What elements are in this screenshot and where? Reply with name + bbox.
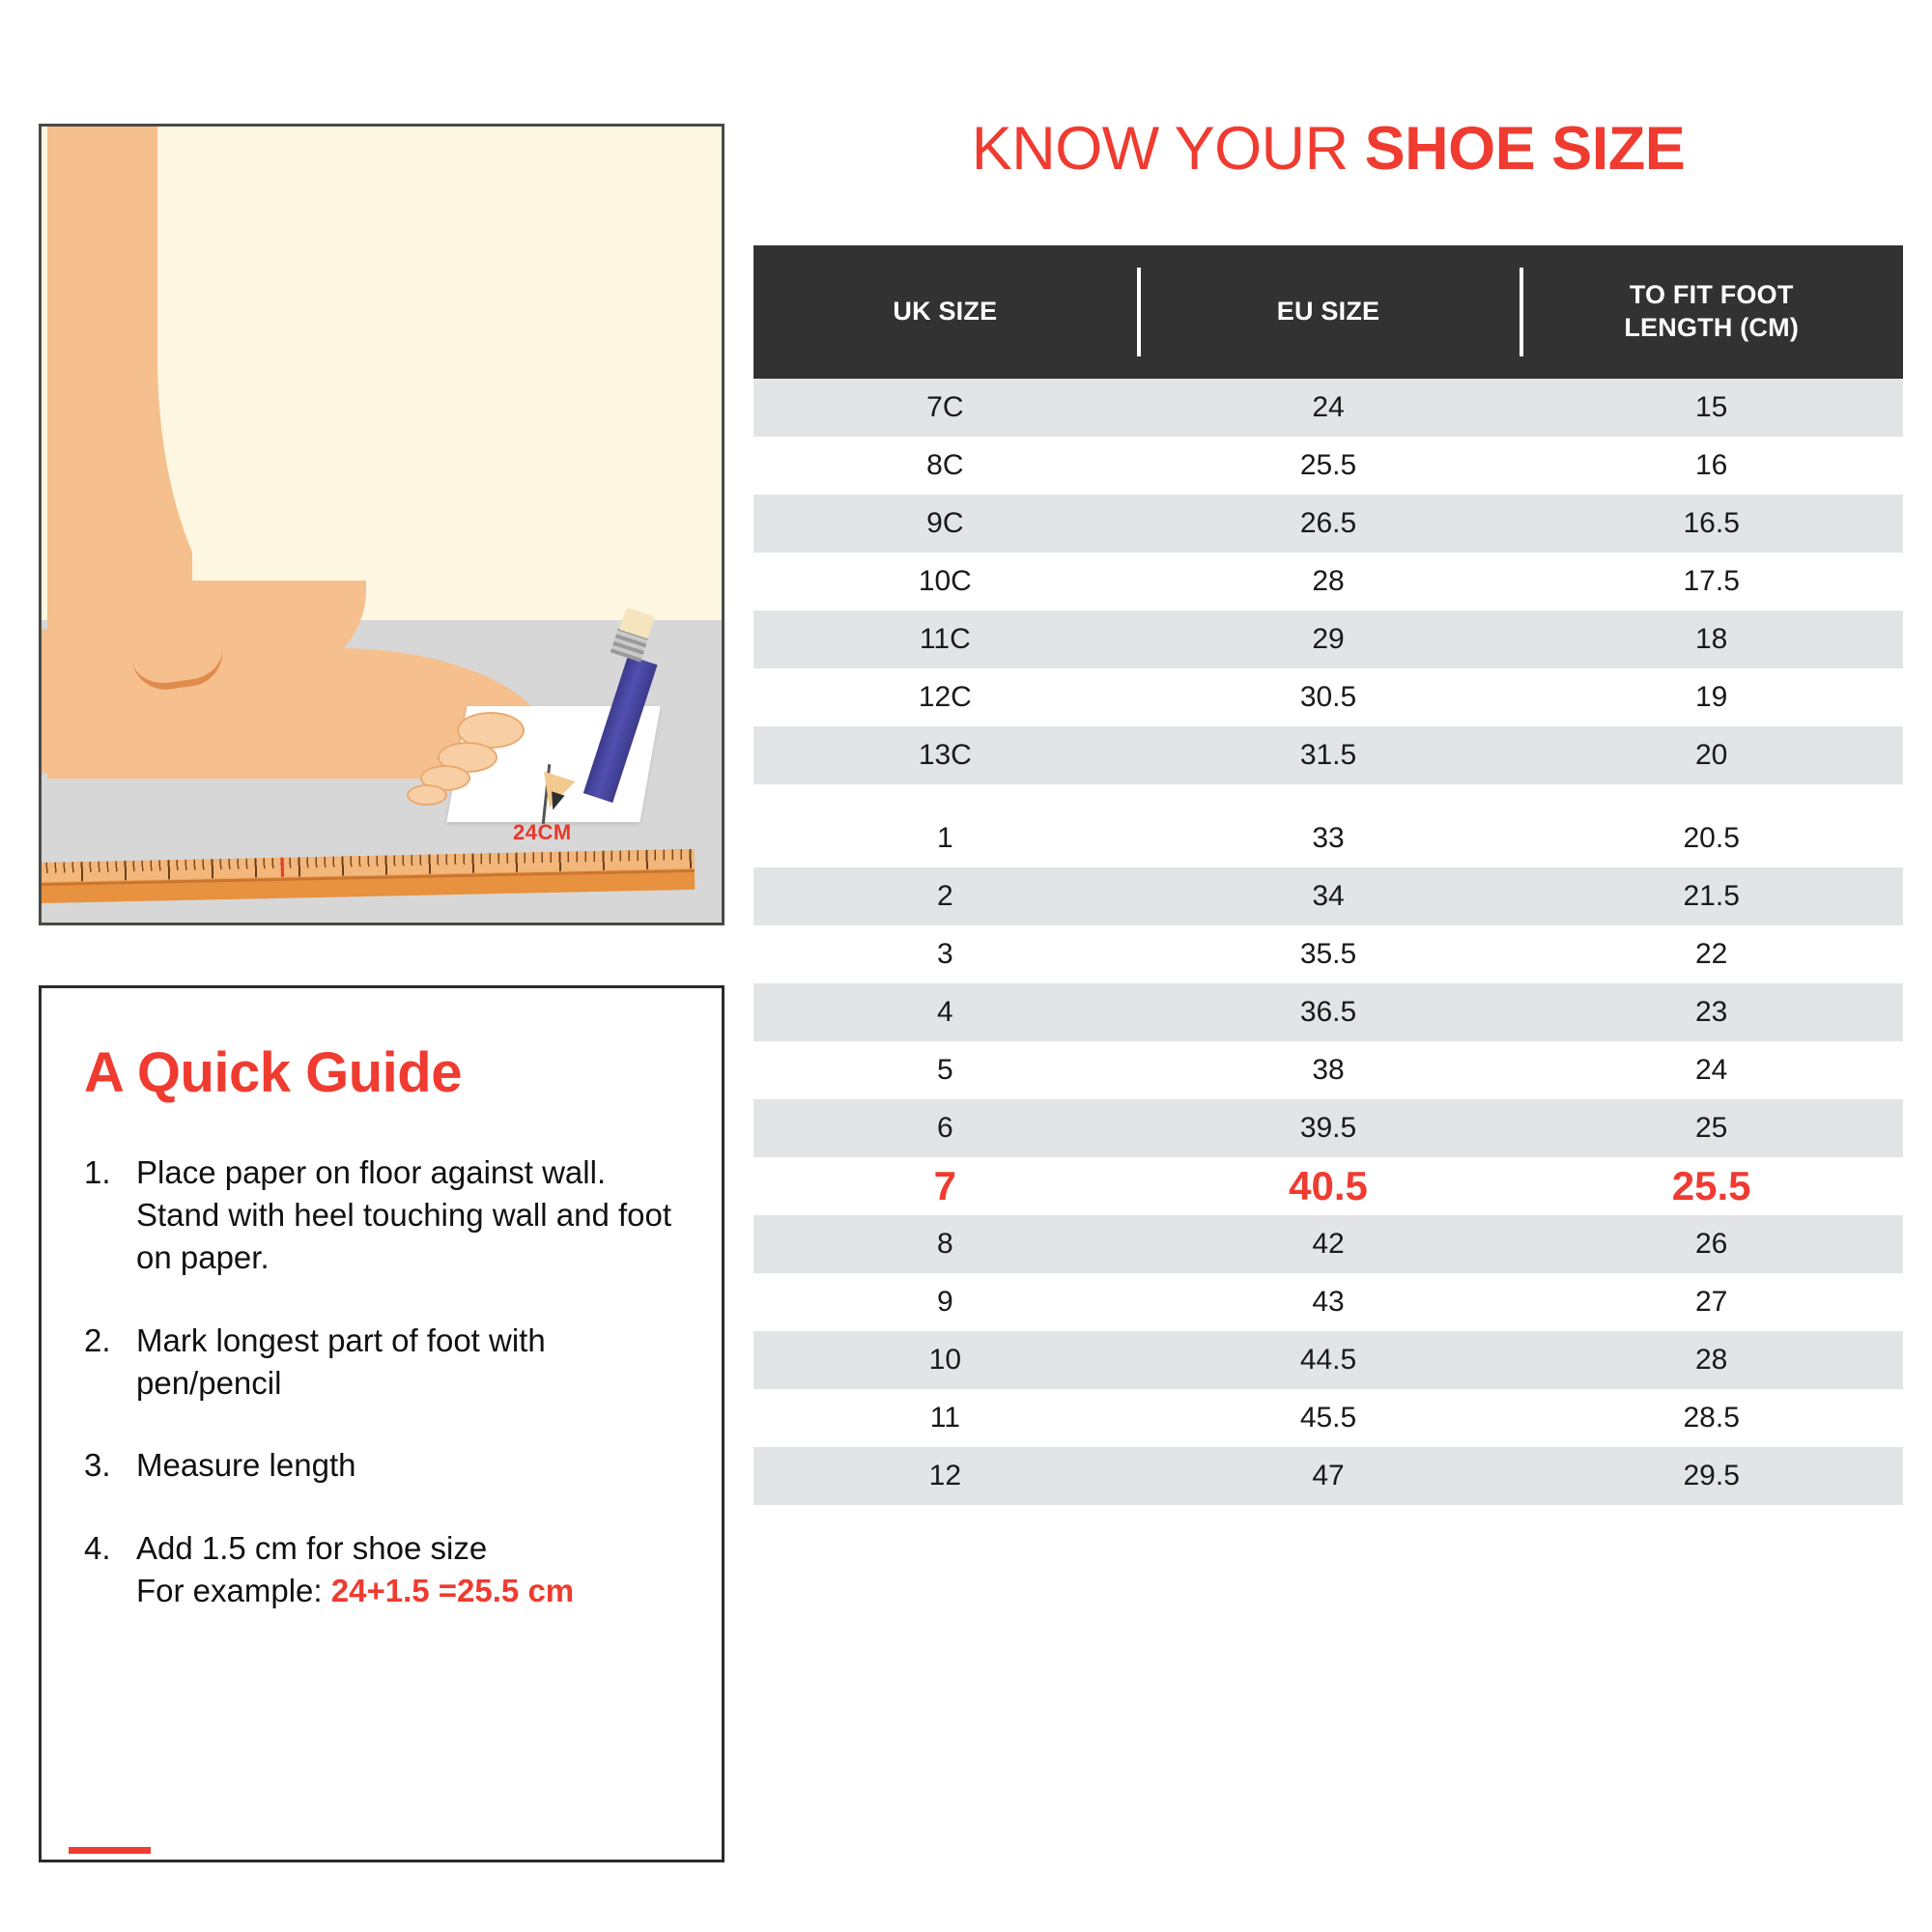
cell-foot-length: 23 [1520, 983, 1903, 1041]
left-column: 24CM A Quick Guide 1. Place paper on flo… [39, 124, 724, 1862]
cell-eu-size: 36.5 [1137, 983, 1520, 1041]
cell-eu-size: 47 [1137, 1447, 1520, 1505]
cell-foot-length: 16.5 [1520, 495, 1903, 553]
cell-foot-length: 25.5 [1520, 1157, 1903, 1215]
step-example-prefix: For example: [136, 1573, 331, 1608]
cell-uk-size: 13C [753, 726, 1137, 784]
cell-uk-size: 10 [753, 1331, 1137, 1389]
cell-eu-size: 31.5 [1137, 726, 1520, 784]
page-title: KNOW YOUR SHOE SIZE [753, 114, 1903, 184]
list-item: 2. Mark longest part of foot with pen/pe… [84, 1320, 679, 1405]
step-example-value: 24+1.5 =25.5 cm [331, 1573, 574, 1608]
cell-eu-size: 42 [1137, 1215, 1520, 1273]
cell-foot-length: 18 [1520, 611, 1903, 668]
step-number: 2. [84, 1320, 121, 1405]
cell-eu-size: 25.5 [1137, 437, 1520, 495]
right-column: KNOW YOUR SHOE SIZE UK SIZE EU SIZE TO F… [753, 0, 1903, 1505]
table-row: 10C2817.5 [753, 553, 1903, 611]
cell-uk-size: 7 [753, 1157, 1137, 1215]
cell-foot-length: 26 [1520, 1215, 1903, 1273]
toe-fourth-icon [407, 784, 447, 806]
cell-foot-length: 27 [1520, 1273, 1903, 1331]
cell-eu-size: 38 [1137, 1041, 1520, 1099]
table-header-row: UK SIZE EU SIZE TO FIT FOOTLENGTH (CM) [753, 245, 1903, 379]
shoe-size-table: UK SIZE EU SIZE TO FIT FOOTLENGTH (CM) 7… [753, 245, 1903, 1505]
cell-uk-size: 8C [753, 437, 1137, 495]
cell-eu-size: 39.5 [1137, 1099, 1520, 1157]
cell-uk-size: 8 [753, 1215, 1137, 1273]
cell-foot-length: 20.5 [1520, 810, 1903, 867]
table-row: 84226 [753, 1215, 1903, 1273]
cell-uk-size: 9C [753, 495, 1137, 553]
quick-guide-card: A Quick Guide 1. Place paper on floor ag… [39, 985, 724, 1862]
cell-eu-size: 33 [1137, 810, 1520, 867]
cell-uk-size: 11 [753, 1389, 1137, 1447]
table-row: 12C30.519 [753, 668, 1903, 726]
table-row: 1145.528.5 [753, 1389, 1903, 1447]
step-number: 1. [84, 1151, 121, 1279]
cell-uk-size: 5 [753, 1041, 1137, 1099]
table-row: 740.525.5 [753, 1157, 1903, 1215]
step-text-group: Add 1.5 cm for shoe size For example: 24… [136, 1527, 574, 1612]
cell-foot-length: 28.5 [1520, 1389, 1903, 1447]
cell-eu-size: 24 [1137, 379, 1520, 437]
cell-uk-size: 2 [753, 867, 1137, 925]
list-item: 3. Measure length [84, 1444, 679, 1487]
cell-foot-length: 28 [1520, 1331, 1903, 1389]
cell-eu-size: 28 [1137, 553, 1520, 611]
table-row: 639.525 [753, 1099, 1903, 1157]
table-row: 9C26.516.5 [753, 495, 1903, 553]
cell-eu-size: 45.5 [1137, 1389, 1520, 1447]
measurement-label: 24CM [513, 820, 572, 845]
cell-eu-size: 35.5 [1137, 925, 1520, 983]
cell-uk-size: 4 [753, 983, 1137, 1041]
step-text: Mark longest part of foot with pen/penci… [136, 1320, 672, 1405]
cell-foot-length: 15 [1520, 379, 1903, 437]
cell-foot-length: 21.5 [1520, 867, 1903, 925]
column-header-eu-size: EU SIZE [1137, 296, 1520, 328]
page-title-bold: SHOE SIZE [1365, 115, 1686, 183]
cell-uk-size: 1 [753, 810, 1137, 867]
cell-foot-length: 19 [1520, 668, 1903, 726]
table-row: 124729.5 [753, 1447, 1903, 1505]
table-row: 1044.528 [753, 1331, 1903, 1389]
quick-guide-steps: 1. Place paper on floor against wall. St… [84, 1151, 679, 1612]
kids-size-rows: 7C24158C25.5169C26.516.510C2817.511C2918… [753, 379, 1903, 784]
quick-guide-heading: A Quick Guide [84, 1040, 462, 1105]
table-row: 436.523 [753, 983, 1903, 1041]
quick-guide-heading-underline [69, 1847, 151, 1854]
page-title-plain: KNOW YOUR [972, 115, 1365, 183]
column-header-uk-size: UK SIZE [753, 296, 1137, 328]
cell-eu-size: 29 [1137, 611, 1520, 668]
cell-foot-length: 29.5 [1520, 1447, 1903, 1505]
cell-eu-size: 40.5 [1137, 1157, 1520, 1215]
list-item: 1. Place paper on floor against wall. St… [84, 1151, 679, 1279]
cell-uk-size: 12 [753, 1447, 1137, 1505]
cell-eu-size: 30.5 [1137, 668, 1520, 726]
quick-guide-heading-wrap: A Quick Guide [84, 1040, 679, 1105]
table-row: 23421.5 [753, 867, 1903, 925]
table-row: 94327 [753, 1273, 1903, 1331]
cell-uk-size: 9 [753, 1273, 1137, 1331]
cell-foot-length: 22 [1520, 925, 1903, 983]
table-row: 13320.5 [753, 810, 1903, 867]
cell-eu-size: 34 [1137, 867, 1520, 925]
cell-eu-size: 26.5 [1137, 495, 1520, 553]
adult-size-rows: 13320.523421.5335.522436.52353824639.525… [753, 810, 1903, 1505]
cell-uk-size: 6 [753, 1099, 1137, 1157]
table-row: 8C25.516 [753, 437, 1903, 495]
cell-uk-size: 12C [753, 668, 1137, 726]
cell-foot-length: 17.5 [1520, 553, 1903, 611]
cell-foot-length: 20 [1520, 726, 1903, 784]
cell-uk-size: 10C [753, 553, 1137, 611]
cell-eu-size: 44.5 [1137, 1331, 1520, 1389]
table-row: 11C2918 [753, 611, 1903, 668]
step-number: 3. [84, 1444, 121, 1487]
step-number: 4. [84, 1527, 121, 1612]
step-text: Add 1.5 cm for shoe size [136, 1530, 487, 1566]
foot-measuring-illustration: 24CM [39, 124, 724, 925]
step-text: Measure length [136, 1444, 355, 1487]
cell-uk-size: 11C [753, 611, 1137, 668]
list-item: 4. Add 1.5 cm for shoe size For example:… [84, 1527, 679, 1612]
step-text: Place paper on floor against wall. Stand… [136, 1151, 672, 1279]
table-row: 7C2415 [753, 379, 1903, 437]
table-row: 13C31.520 [753, 726, 1903, 784]
cell-foot-length: 25 [1520, 1099, 1903, 1157]
ruler-red-mark [281, 858, 284, 877]
table-row: 335.522 [753, 925, 1903, 983]
cell-uk-size: 3 [753, 925, 1137, 983]
cell-eu-size: 43 [1137, 1273, 1520, 1331]
cell-foot-length: 24 [1520, 1041, 1903, 1099]
row-group-divider [753, 784, 1903, 810]
table-row: 53824 [753, 1041, 1903, 1099]
cell-foot-length: 16 [1520, 437, 1903, 495]
column-header-foot-length: TO FIT FOOTLENGTH (CM) [1520, 279, 1903, 345]
cell-uk-size: 7C [753, 379, 1137, 437]
